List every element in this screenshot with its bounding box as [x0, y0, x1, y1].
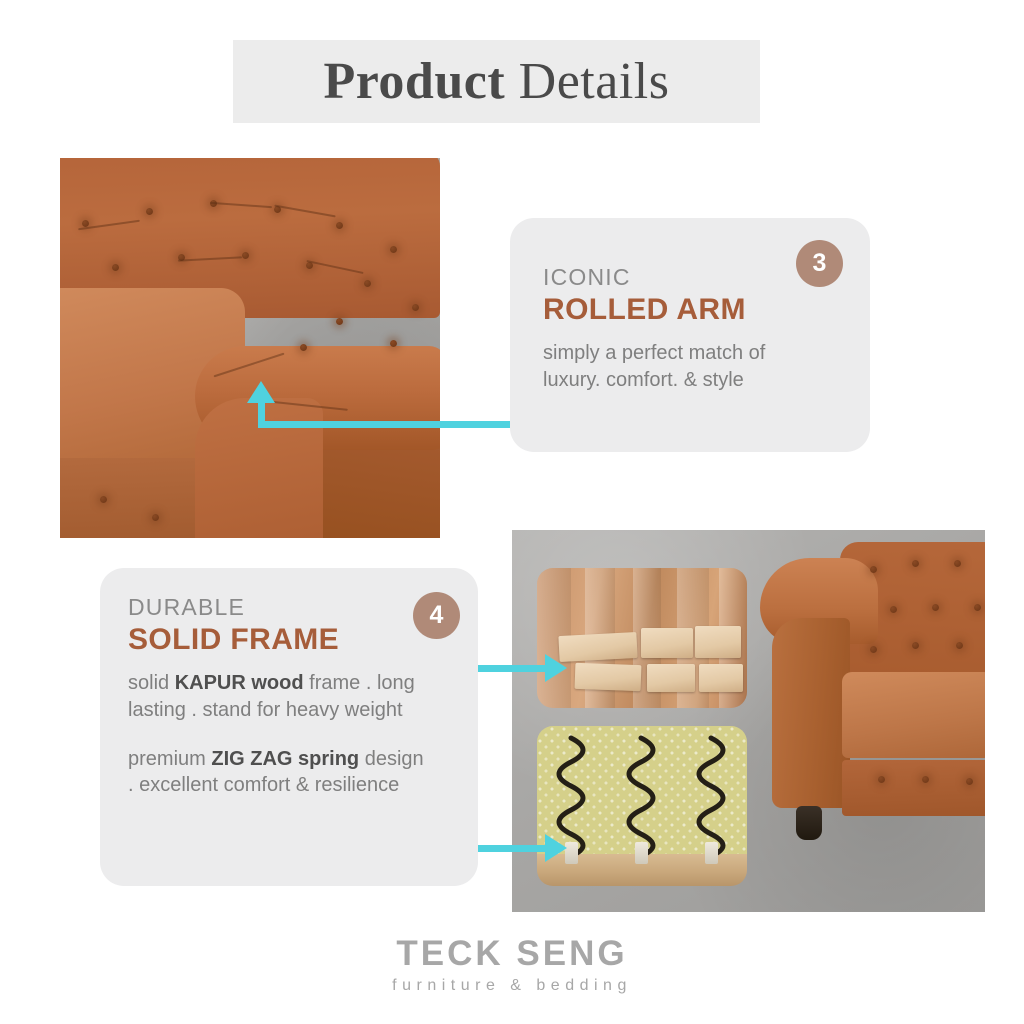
detail-card-solid-frame[interactable]: 4 DURABLE SOLID FRAME solid KAPUR wood f… [100, 568, 478, 886]
page-title-band: Product Details [233, 40, 760, 123]
page-title: Product Details [324, 56, 670, 108]
card-headline: SOLID FRAME [128, 622, 428, 658]
brand-logo: TECK SENG furniture & bedding [0, 936, 1024, 994]
brand-name: TECK SENG [0, 936, 1024, 971]
connector-horizontal [258, 421, 532, 428]
chesterfield-sofa-photo [750, 530, 985, 912]
photo-block-white-margin [473, 530, 512, 912]
detail-card-rolled-arm[interactable]: 3 ICONIC ROLLED ARM simply a perfect mat… [510, 218, 870, 452]
card-body: DURABLE SOLID FRAME solid KAPUR wood fra… [128, 594, 428, 799]
connector-arrowhead [247, 381, 275, 403]
zig-zag-spring-inset [537, 726, 747, 886]
connector-arrowhead [545, 834, 567, 862]
kapur-wood-inset [537, 568, 747, 708]
armchair-photo [60, 158, 440, 538]
page-title-light: Details [505, 53, 669, 110]
page-title-bold: Product [324, 53, 506, 110]
card-headline: ROLLED ARM [543, 292, 823, 328]
frame-photo-block [512, 530, 985, 912]
card-eyebrow: DURABLE [128, 594, 428, 620]
card-paragraph: simply a perfect match of luxury. comfor… [543, 340, 823, 393]
card-paragraph: premium ZIG ZAG spring design . excellen… [128, 746, 428, 799]
spring-clip [705, 842, 718, 864]
card-eyebrow: ICONIC [543, 264, 823, 290]
card-body: ICONIC ROLLED ARM simply a perfect match… [543, 264, 823, 394]
armchair-tufting [60, 158, 440, 538]
connector-vertical [258, 400, 265, 426]
spring-clip [635, 842, 648, 864]
sofa-tufting [750, 530, 985, 912]
brand-tagline: furniture & bedding [0, 978, 1024, 994]
card-paragraph: solid KAPUR wood frame . long lasting . … [128, 670, 428, 723]
connector-arrowhead [545, 654, 567, 682]
